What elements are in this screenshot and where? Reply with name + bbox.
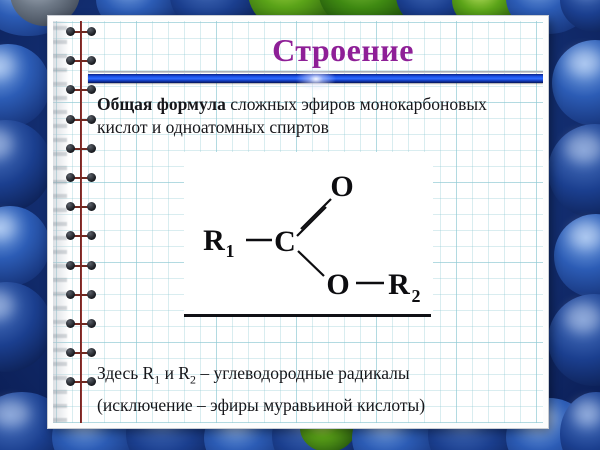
ring-binder-hole: [66, 144, 96, 153]
ring-binder-hole: [66, 85, 96, 94]
intro-bold-phrase: Общая формула: [97, 94, 226, 114]
title-accent-bar: [88, 74, 543, 83]
atom-oxygen-carbonyl: O: [330, 170, 353, 203]
note-mid: и R: [160, 363, 190, 383]
bond-c-o-single: [298, 251, 324, 276]
slide-paper-panel: Строение Общая формула сложных эфиров мо…: [48, 16, 548, 428]
note-post: – углеводородные радикалы: [196, 363, 410, 383]
ring-binder-hole: [66, 202, 96, 211]
atom-r1: R: [203, 224, 225, 257]
atom-r1-subscript: 1: [226, 241, 235, 261]
ring-binder-line: [80, 21, 82, 423]
ring-binder-hole: [66, 261, 96, 270]
atom-oxygen-ester: O: [326, 268, 349, 301]
title-divider-rule: [88, 71, 543, 73]
note-line-1: Здесь R1 и R2 – углеводородные радикалы: [97, 361, 529, 393]
atom-r2-subscript: 2: [412, 286, 421, 306]
slide-canvas: Строение Общая формула сложных эфиров мо…: [0, 0, 600, 450]
ring-binder-hole: [66, 290, 96, 299]
ring-binder-hole: [66, 115, 96, 124]
ring-binder-hole: [66, 377, 96, 386]
formula-white-box: R 1 C O O R 2: [184, 152, 433, 315]
bond-c-o-double-a: [301, 199, 331, 229]
intro-paragraph: Общая формула сложных эфиров монокарбоно…: [97, 93, 529, 139]
ester-general-formula-diagram: R 1 C O O R 2: [184, 152, 433, 315]
ring-binder-hole: [66, 27, 96, 36]
ring-binder-hole: [66, 173, 96, 182]
note-line-2: (исключение – эфиры муравьиной кислоты): [97, 393, 529, 418]
page-title: Строение: [173, 32, 513, 69]
atom-r2: R: [388, 268, 410, 301]
ring-binder-hole: [66, 348, 96, 357]
bond-c-o-double-b: [297, 207, 326, 236]
ring-binder-hole: [66, 56, 96, 65]
ring-binder-hole: [66, 231, 96, 240]
note-paragraph: Здесь R1 и R2 – углеводородные радикалы …: [97, 361, 529, 418]
ring-binder-hole: [66, 319, 96, 328]
formula-underline: [184, 314, 431, 317]
note-pre: Здесь R: [97, 363, 154, 383]
torn-paper-edge-icon: [53, 21, 67, 423]
atom-carbon: C: [274, 225, 296, 258]
